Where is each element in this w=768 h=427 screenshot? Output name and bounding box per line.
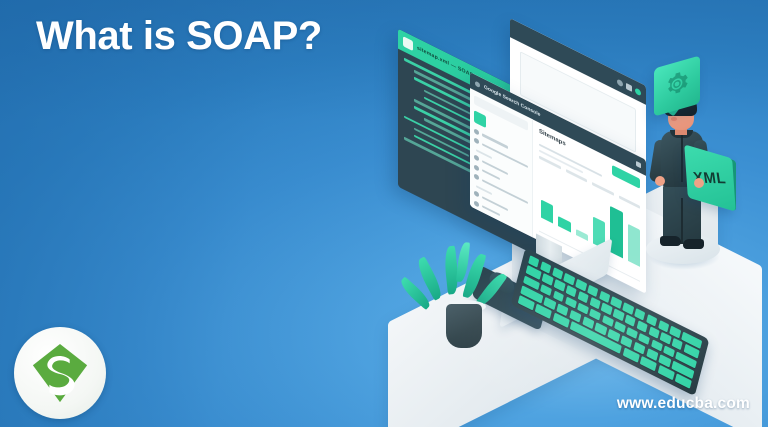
settings-icon [474, 190, 479, 197]
performance-icon [474, 138, 479, 145]
page-title: What is SOAP? [36, 14, 322, 59]
character-cheek [671, 117, 677, 121]
window-dot-icon [475, 80, 480, 87]
potted-plant [422, 242, 502, 354]
settings-badge [654, 62, 700, 110]
character-zipper [681, 134, 683, 182]
educba-logo[interactable] [14, 327, 106, 419]
message-icon [474, 200, 479, 207]
character-hand-right [694, 178, 704, 188]
home-icon [474, 128, 479, 135]
sitemap-icon [474, 164, 479, 171]
chart-bar [576, 229, 588, 240]
file-icon [403, 36, 413, 51]
removal-icon [474, 173, 479, 180]
chart-bar [558, 216, 570, 232]
character-shoe-right [683, 239, 704, 249]
isometric-illustration: sitemap.xml — SOAP Google Search Console [386, 44, 768, 404]
character-leg-split [681, 198, 683, 244]
chart-bar [610, 206, 622, 258]
character-hand-left [655, 176, 665, 186]
educba-logo-mark [29, 342, 91, 404]
app-logo-icon [474, 110, 486, 128]
character-shoe-left [660, 236, 681, 246]
plant-pot [446, 304, 482, 348]
chart-bar [541, 199, 553, 223]
educba-banner: What is SOAP? sitemap.xml — SOAP [0, 0, 768, 427]
coverage-icon [474, 155, 479, 162]
minimize-dot-icon[interactable] [617, 78, 623, 87]
site-url: www.educba.com [617, 395, 750, 413]
